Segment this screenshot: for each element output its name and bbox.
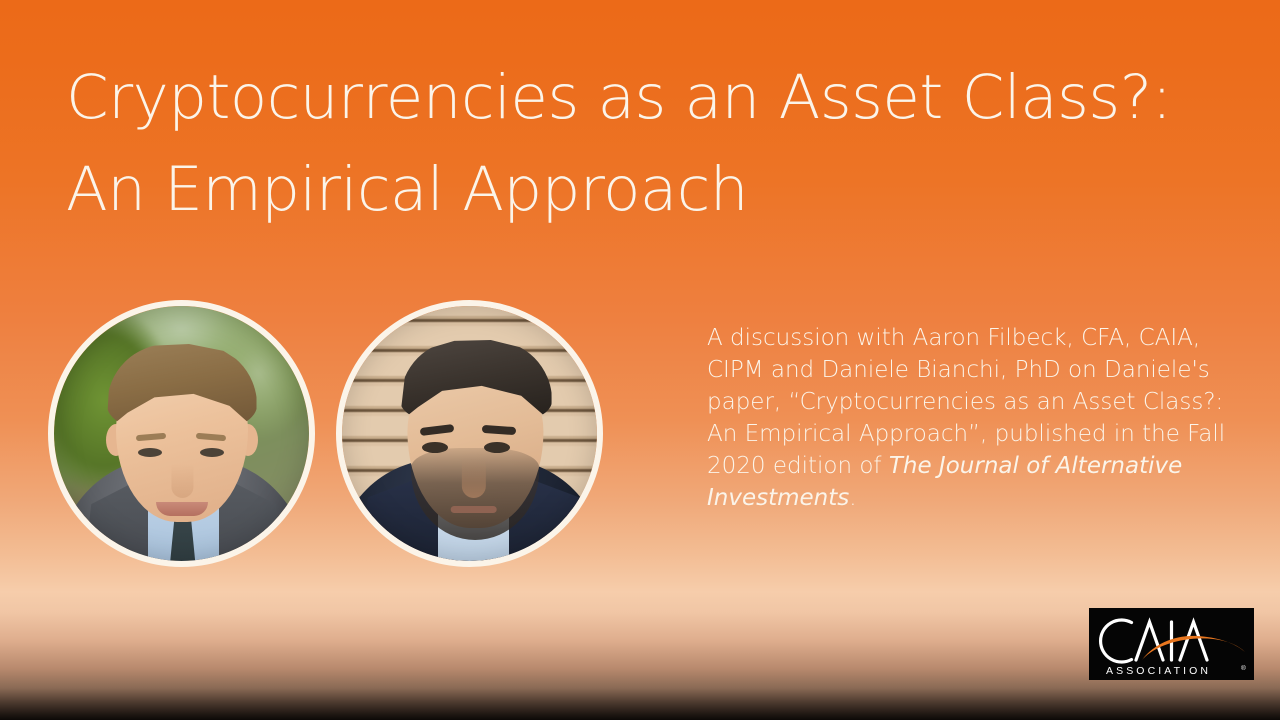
- logo-letter-c: [1101, 620, 1132, 662]
- logo-inner: ASSOCIATION ®: [1089, 608, 1254, 680]
- description-text: A discussion with Aaron Filbeck, CFA, CA…: [707, 322, 1227, 514]
- slide-canvas: Cryptocurrencies as an Asset Class?: An …: [0, 0, 1280, 720]
- eye-left-shape: [422, 442, 448, 453]
- logo-letter-a1: [1136, 622, 1163, 660]
- logo-subtext: ASSOCIATION: [1106, 665, 1211, 677]
- title-line-2: An Empirical Approach: [66, 144, 1216, 236]
- caia-association-logo: ASSOCIATION ®: [1089, 608, 1254, 680]
- nose-shape: [171, 464, 193, 498]
- avatar-daniele-bianchi: [336, 300, 603, 567]
- page-title: Cryptocurrencies as an Asset Class?: An …: [66, 52, 1216, 236]
- mouth-shape: [450, 506, 496, 513]
- mouth-shape: [156, 502, 208, 516]
- logo-registered-mark: ®: [1241, 664, 1246, 672]
- title-line-1: Cryptocurrencies as an Asset Class?:: [66, 52, 1216, 144]
- nose-shape: [461, 458, 485, 498]
- logo-letter-a2: [1180, 622, 1207, 660]
- portrait-photo-left: [54, 306, 309, 561]
- eye-left-shape: [138, 448, 162, 457]
- eye-right-shape: [200, 448, 224, 457]
- description-part-2: .: [849, 485, 856, 511]
- portrait-photo-right: [342, 306, 597, 561]
- eye-right-shape: [484, 442, 510, 453]
- caia-logo-svg: ASSOCIATION ®: [1089, 608, 1254, 680]
- logo-swoosh-icon: [1142, 636, 1245, 660]
- avatar-aaron-filbeck: [48, 300, 315, 567]
